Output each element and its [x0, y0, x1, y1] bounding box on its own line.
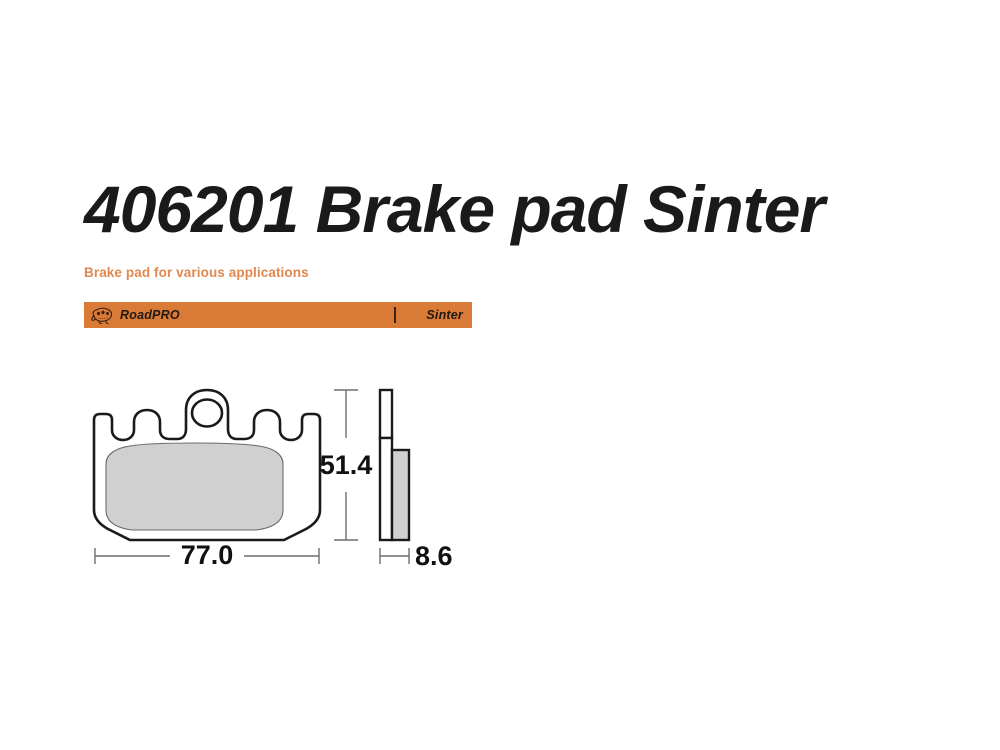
friction-material-side	[392, 450, 409, 540]
backing-plate-tab-side	[380, 390, 392, 438]
backing-plate-side	[380, 438, 392, 540]
dimension-height-label: 51.4	[320, 450, 373, 480]
mounting-hole	[192, 400, 222, 427]
brand-bar: RoadPRO Sinter	[84, 302, 472, 328]
page-title: 406201 Brake pad Sinter	[84, 176, 824, 242]
friction-material-front	[106, 443, 283, 530]
brake-pad-side-view	[380, 390, 409, 540]
brand-name-label: RoadPRO	[120, 308, 180, 322]
compound-label: Sinter	[426, 308, 463, 322]
brake-pad-diagram: 77.0 51.4	[84, 382, 484, 582]
dimension-width-label: 77.0	[181, 540, 234, 570]
dimension-thickness-label: 8.6	[415, 541, 453, 571]
product-sheet-page: 406201 Brake pad Sinter Brake pad for va…	[0, 0, 1000, 750]
technical-drawing: 77.0 51.4	[84, 382, 484, 582]
roadpro-emblem-icon	[89, 305, 115, 325]
brand-bar-divider	[394, 307, 396, 323]
page-subtitle: Brake pad for various applications	[84, 265, 309, 280]
dimension-thickness	[380, 548, 409, 564]
brake-pad-front-view	[94, 390, 320, 540]
